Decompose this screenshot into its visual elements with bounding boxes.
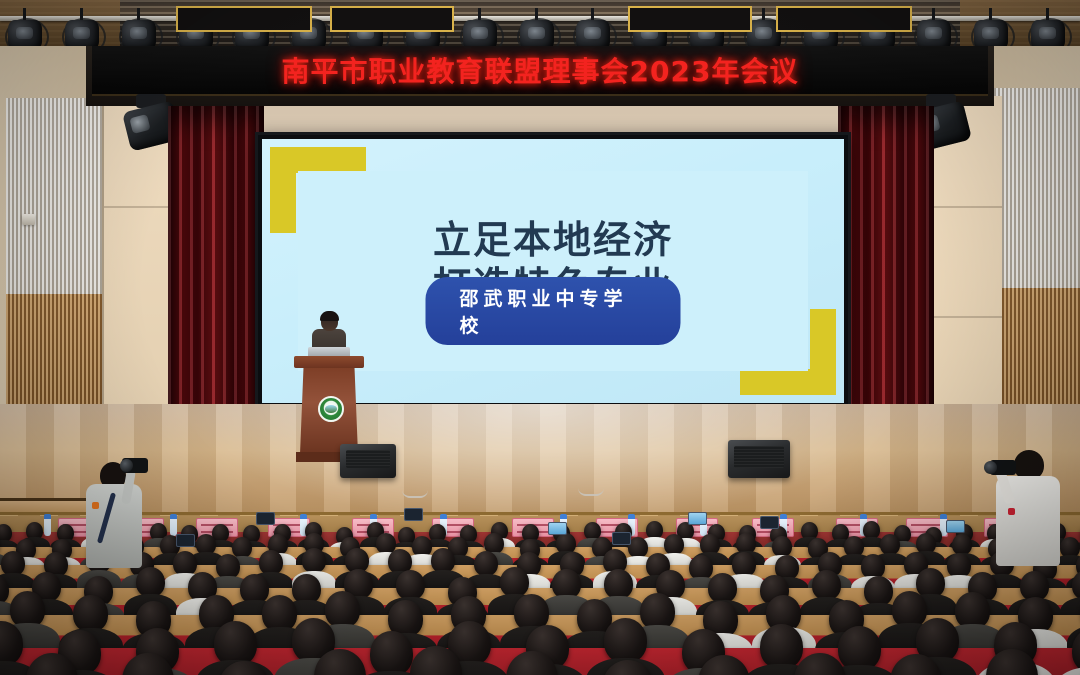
- audience-member-head: [760, 624, 803, 669]
- led-banner: 南平市职业教育联盟理事会2023年会议: [92, 46, 988, 96]
- phone-recording: [256, 512, 275, 525]
- water-bottle: [44, 514, 51, 536]
- audience-member-head: [302, 548, 326, 573]
- phone-recording: [404, 508, 423, 521]
- audience-member-head: [232, 537, 252, 558]
- audience-member-head: [952, 534, 972, 555]
- slide-line-1: 立足本地经济: [298, 217, 808, 263]
- panel-seam: [104, 206, 178, 208]
- audience-member-head: [628, 537, 648, 558]
- audience-member-head: [772, 536, 792, 557]
- audience-member-head: [370, 631, 413, 675]
- audience-member-head: [812, 570, 841, 600]
- audience-member-head: [136, 567, 165, 597]
- audience-member-head: [604, 618, 647, 663]
- yellow-corner-accent: [810, 309, 836, 395]
- valance-box: [628, 6, 752, 32]
- phone-recording: [760, 516, 779, 529]
- phone-recording: [946, 520, 965, 533]
- auditorium-scene: 南平市职业教育联盟理事会2023年会议 立足本地经济 打造特色专业 邵武职业中专…: [0, 0, 1080, 675]
- audience-member-head: [664, 534, 684, 555]
- valance-box: [776, 6, 912, 32]
- audience-member-head: [880, 534, 900, 555]
- water-bottle: [170, 514, 177, 536]
- stage-monitor-speaker: [340, 444, 396, 478]
- audience-member-head: [864, 576, 893, 606]
- audience-member-head: [604, 569, 633, 599]
- phone-recording: [688, 512, 707, 525]
- audience-member-head: [73, 595, 108, 632]
- slide-school-name: 邵武职业中专学校: [460, 288, 628, 337]
- photographer-white-hoodie: [986, 446, 1064, 566]
- audience-member-head: [474, 551, 498, 576]
- phone-recording: [612, 532, 631, 545]
- slide-content: 立足本地经济 打造特色专业 邵武职业中专学校: [298, 171, 808, 371]
- photographer-grey-jacket: [78, 456, 148, 566]
- led-banner-text: 南平市职业教育联盟理事会2023年会议: [282, 50, 799, 90]
- audience-member-head: [325, 591, 360, 628]
- audience-member-head: [500, 567, 529, 597]
- phone-recording: [548, 522, 567, 535]
- stage-curtain-right: [838, 106, 934, 436]
- stage-floor-sheen: [180, 404, 900, 526]
- slide-school-pill: 邵武职业中专学校: [426, 277, 681, 345]
- valance-box: [176, 6, 312, 32]
- wall-fixture: [22, 214, 35, 225]
- yellow-corner-accent: [270, 147, 296, 233]
- stage-monitor-speaker: [728, 440, 790, 478]
- audience-member-head: [396, 570, 425, 600]
- floor-mic-stand: [402, 490, 428, 498]
- valance-box: [330, 6, 454, 32]
- audience-member-head: [708, 573, 737, 603]
- panel-seam: [930, 206, 1002, 208]
- floor-mic-stand: [578, 488, 604, 496]
- acoustic-slat-panel: [6, 98, 102, 294]
- stage-curtain-left: [168, 106, 264, 436]
- school-emblem: [318, 396, 344, 422]
- panel-seam: [930, 316, 1002, 318]
- phone-recording: [176, 534, 195, 547]
